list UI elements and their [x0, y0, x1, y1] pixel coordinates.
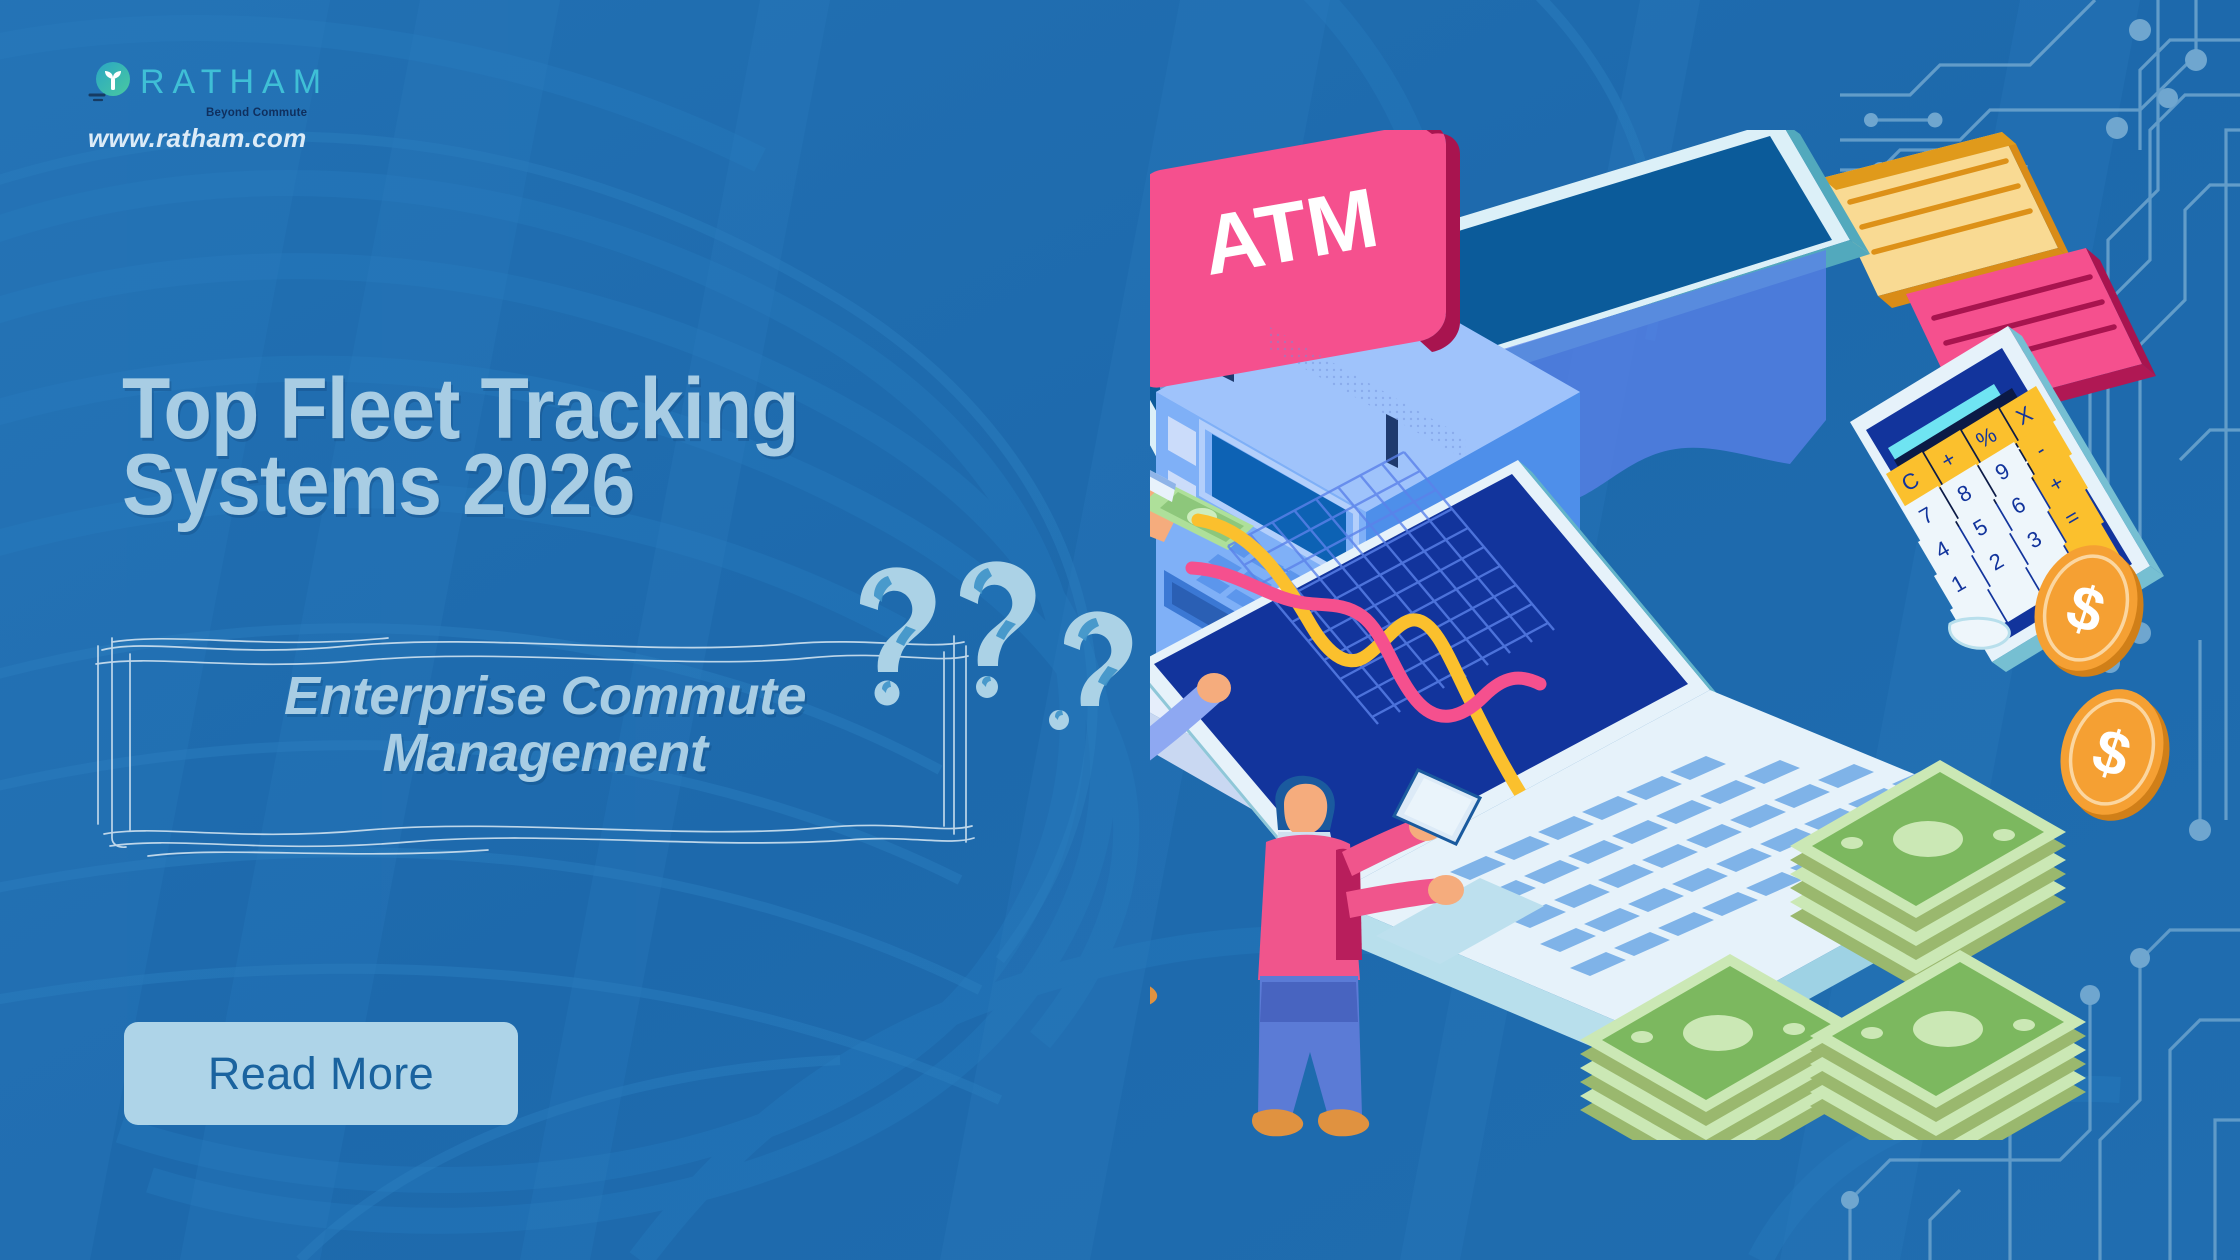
page-title: Top Fleet Tracking Systems 2026 — [122, 372, 1042, 523]
subtitle: Enterprise Commute Management — [150, 668, 940, 782]
dollar-coin-lower: $ — [2045, 676, 2186, 835]
subtitle-line-2: Management — [150, 725, 940, 782]
cash-stack-right — [1810, 950, 2086, 1140]
y-leaf-logo-icon — [88, 59, 134, 105]
read-more-button[interactable]: Read More — [124, 1022, 518, 1125]
isometric-finance-illustration: ATM — [1150, 130, 2240, 1140]
logo-tagline: Beyond Commute — [206, 107, 508, 119]
logo-wordmark: RATHAM — [140, 65, 329, 99]
subtitle-line-1: Enterprise Commute — [150, 668, 940, 725]
question-marks-decoration — [840, 560, 1160, 770]
logo-row: RATHAM — [88, 58, 508, 106]
brand-logo-block[interactable]: RATHAM Beyond Commute www.ratham.com — [88, 58, 508, 154]
banner-canvas: RATHAM Beyond Commute www.ratham.com Top… — [0, 0, 2240, 1260]
website-url[interactable]: www.ratham.com — [88, 123, 508, 154]
headline-line-2: Systems 2026 — [122, 448, 1042, 524]
